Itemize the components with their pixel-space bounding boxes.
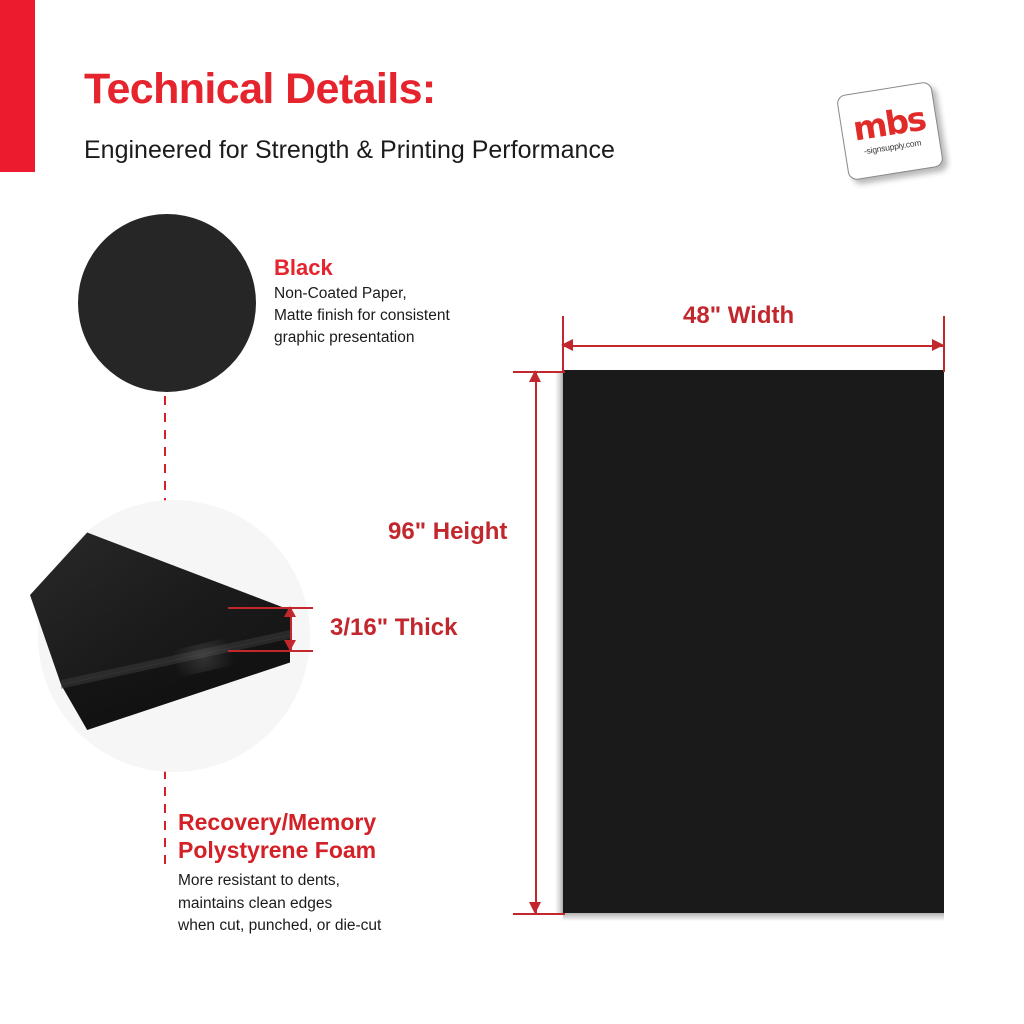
foam-board-panel bbox=[563, 370, 944, 913]
foam-edge-photo bbox=[30, 520, 290, 770]
callout-surface-line-2: Matte finish for consistent bbox=[274, 305, 524, 327]
board-drop-shadow bbox=[563, 913, 944, 921]
callout-surface-line-1: Non-Coated Paper, bbox=[274, 283, 524, 305]
width-dimension-line bbox=[562, 345, 944, 347]
brand-logo[interactable]: mbs -signsupply.com bbox=[838, 86, 946, 184]
page-subtitle: Engineered for Strength & Printing Perfo… bbox=[84, 138, 615, 163]
thickness-extension-top bbox=[228, 607, 313, 609]
height-arrow-down-icon bbox=[529, 902, 541, 914]
callout-surface: Black Non-Coated Paper, Matte finish for… bbox=[274, 256, 524, 349]
thickness-label: 3/16" Thick bbox=[330, 614, 457, 642]
width-arrow-left-icon bbox=[561, 339, 573, 351]
logo-card: mbs -signsupply.com bbox=[836, 81, 944, 181]
callout-core-line-2: maintains clean edges bbox=[178, 893, 478, 915]
callout-surface-line-3: graphic presentation bbox=[274, 327, 524, 349]
height-dimension-line bbox=[535, 371, 537, 914]
callout-core-title-1: Recovery/Memory bbox=[178, 808, 478, 836]
page-title: Technical Details: bbox=[84, 68, 436, 111]
callout-surface-title: Black bbox=[274, 256, 524, 280]
callout-core: Recovery/Memory Polystyrene Foam More re… bbox=[178, 808, 478, 938]
callout-core-title-2: Polystyrene Foam bbox=[178, 836, 478, 864]
infographic-canvas: Technical Details: Engineered for Streng… bbox=[0, 0, 1024, 1024]
callout-core-line-1: More resistant to dents, bbox=[178, 870, 478, 892]
accent-bar bbox=[0, 0, 35, 172]
height-label: 96" Height bbox=[388, 518, 507, 546]
black-surface-swatch bbox=[78, 214, 256, 392]
height-arrow-up-icon bbox=[529, 370, 541, 382]
thickness-arrow-down-icon bbox=[284, 640, 296, 651]
thickness-arrow-up-icon bbox=[284, 606, 296, 617]
callout-core-line-3: when cut, punched, or die-cut bbox=[178, 915, 478, 937]
width-arrow-right-icon bbox=[932, 339, 944, 351]
width-label: 48" Width bbox=[683, 302, 794, 330]
callout-core-body: More resistant to dents, maintains clean… bbox=[178, 870, 478, 937]
thickness-extension-bottom bbox=[228, 650, 313, 652]
